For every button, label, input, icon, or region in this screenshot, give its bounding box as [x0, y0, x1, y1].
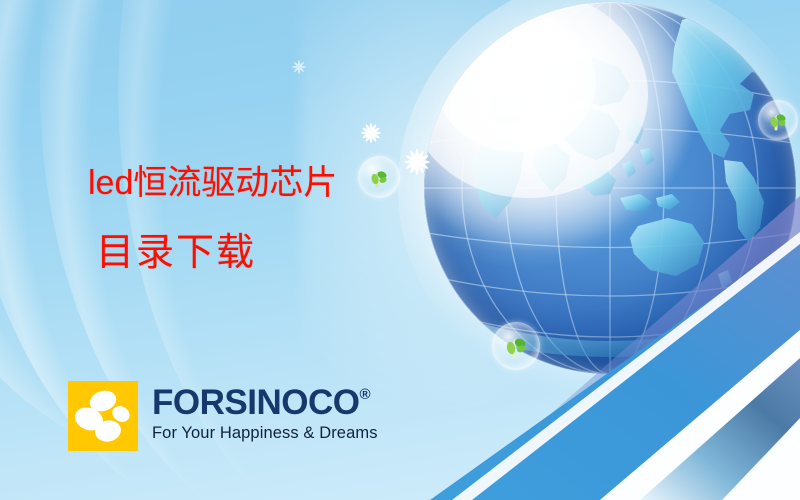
headline-line-2: 目录下载	[96, 234, 418, 272]
brand-name-row: FORSINOCO®	[152, 385, 378, 420]
banner-canvas: led恒流驱动芯片 目录下载 FORSINOCO® For Your Happi…	[0, 0, 800, 500]
brand-logo: FORSINOCO® For Your Happiness & Dreams	[68, 381, 378, 451]
starburst-icon	[358, 120, 384, 146]
registered-mark: ®	[359, 387, 370, 402]
bubble-decoration	[492, 322, 540, 370]
green-sprout-icon	[503, 333, 529, 359]
globe-graphic	[424, 2, 796, 374]
bubble-decoration	[758, 100, 798, 140]
headline-block: led恒流驱动芯片 目录下载	[88, 166, 418, 272]
starburst-icon	[290, 58, 308, 76]
headline-line-1: led恒流驱动芯片	[88, 166, 418, 200]
globe-sphere	[424, 2, 796, 374]
brand-text: FORSINOCO® For Your Happiness & Dreams	[152, 381, 378, 443]
brand-tagline: For Your Happiness & Dreams	[152, 424, 378, 443]
green-sprout-icon	[767, 109, 789, 131]
pinwheel-four-petal-icon	[68, 381, 138, 451]
brand-name: FORSINOCO	[152, 385, 359, 420]
globe-continents-icon	[424, 2, 796, 374]
